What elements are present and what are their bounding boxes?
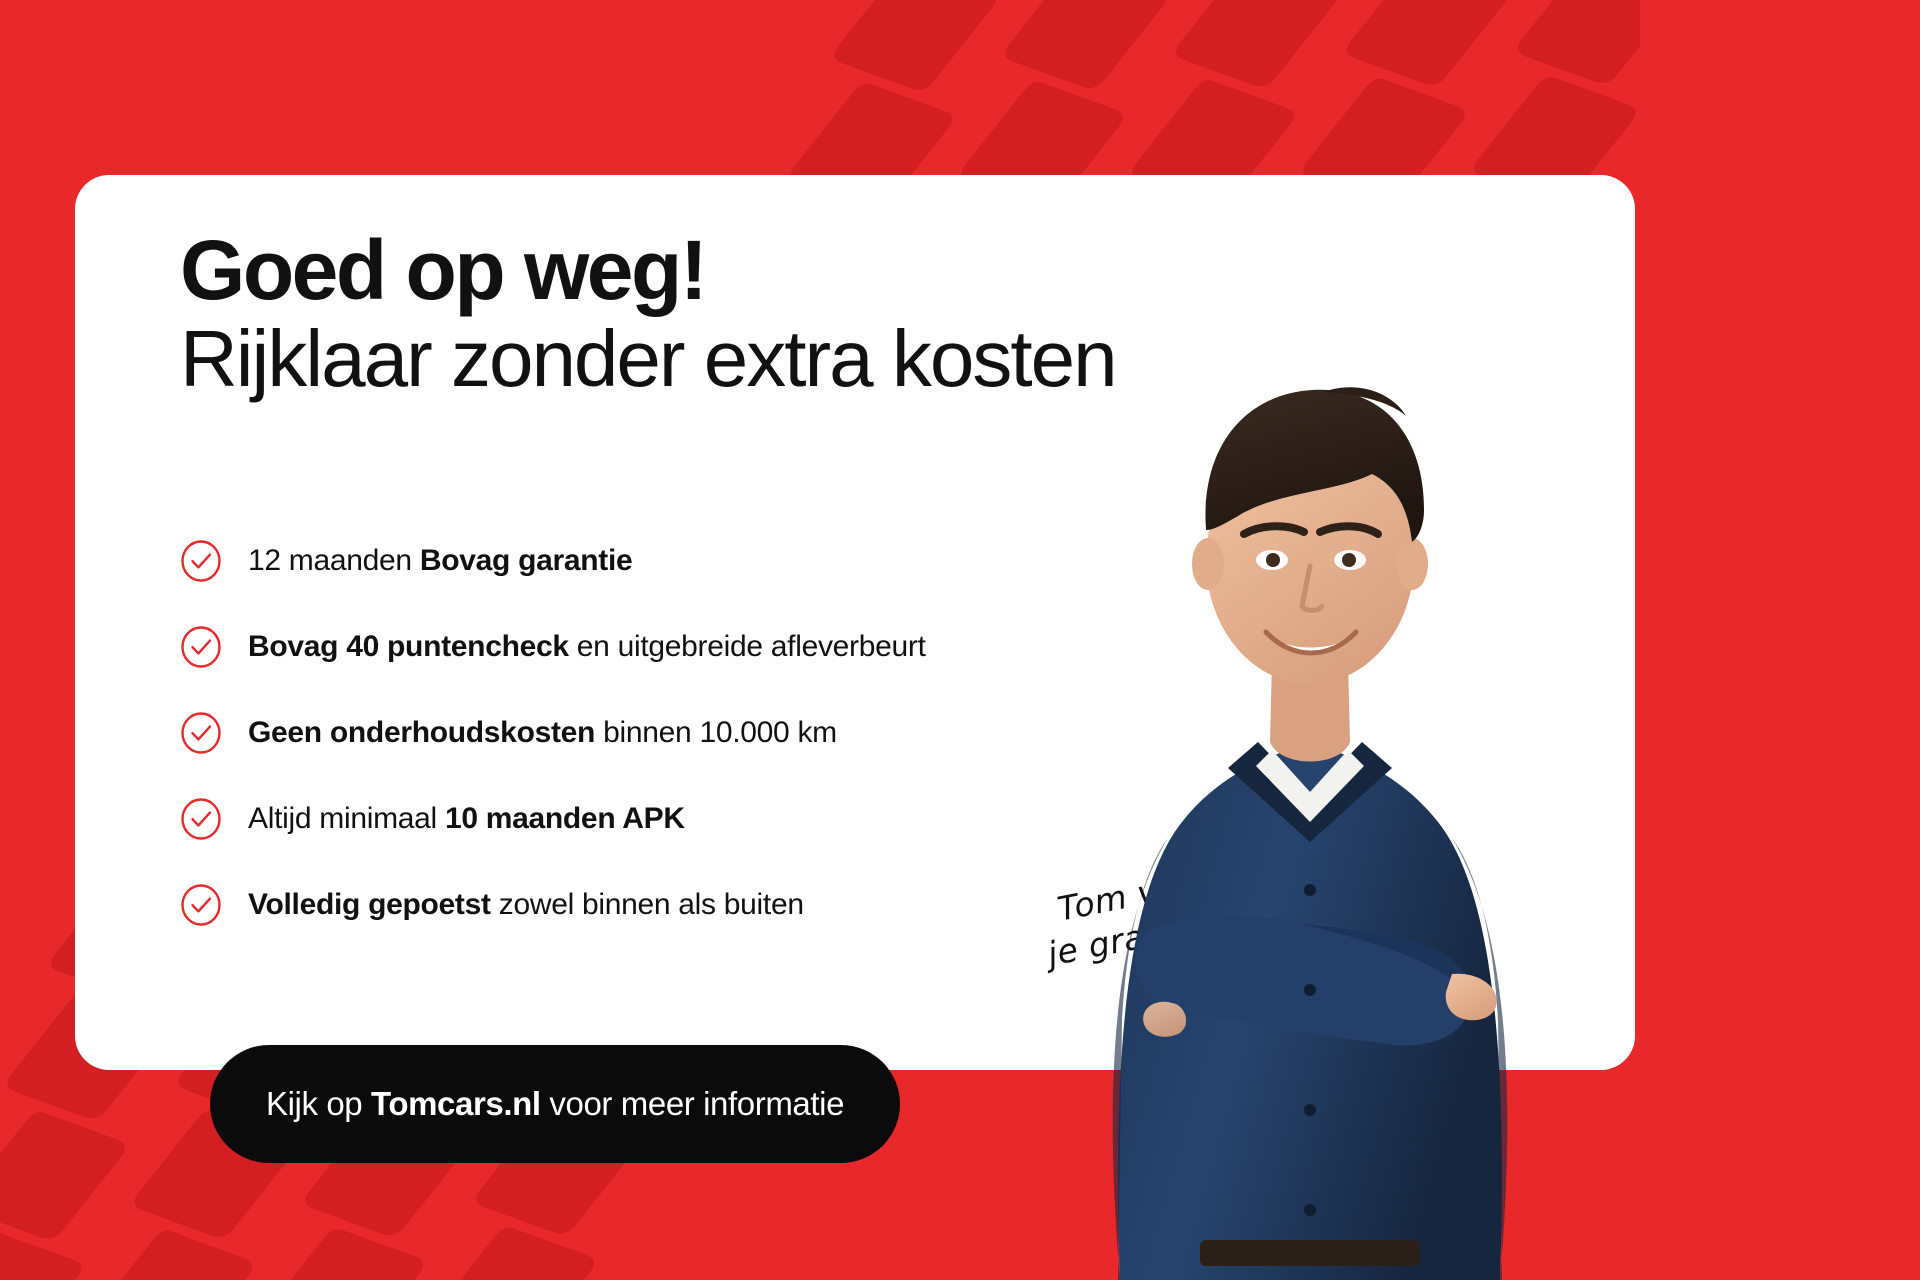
- list-item: Altijd minimaal 10 maanden APK: [180, 783, 1180, 855]
- list-item: Geen onderhoudskosten binnen 10.000 km: [180, 697, 1180, 769]
- cta-button[interactable]: Kijk op Tomcars.nl voor meer informatie: [210, 1045, 900, 1163]
- cta-label: Kijk op Tomcars.nl voor meer informatie: [266, 1085, 844, 1123]
- list-item-label: 12 maanden Bovag garantie: [248, 544, 632, 578]
- list-item: Bovag 40 puntencheck en uitgebreide afle…: [180, 611, 1180, 683]
- check-circle-icon: [180, 884, 222, 926]
- check-circle-icon: [180, 712, 222, 754]
- headline-block: Goed op weg! Rijklaar zonder extra koste…: [180, 230, 1480, 402]
- check-circle-icon: [180, 540, 222, 582]
- list-item-label: Bovag 40 puntencheck en uitgebreide afle…: [248, 630, 926, 664]
- handwritten-note: Tom vertelt je graag meer: [1048, 890, 1338, 974]
- headline-line-1: Goed op weg!: [180, 230, 1480, 311]
- check-circle-icon: [180, 626, 222, 668]
- list-item-label: Altijd minimaal 10 maanden APK: [248, 802, 685, 836]
- headline-line-2: Rijklaar zonder extra kosten: [180, 317, 1480, 402]
- check-circle-icon: [180, 798, 222, 840]
- promo-card: Goed op weg! Rijklaar zonder extra koste…: [75, 175, 1635, 1070]
- list-item: 12 maanden Bovag garantie: [180, 525, 1180, 597]
- benefits-list: 12 maanden Bovag garantie Bovag 40 punte…: [180, 525, 1180, 955]
- list-item: Volledig gepoetst zowel binnen als buite…: [180, 869, 1180, 941]
- list-item-label: Geen onderhoudskosten binnen 10.000 km: [248, 716, 837, 750]
- list-item-label: Volledig gepoetst zowel binnen als buite…: [248, 888, 804, 922]
